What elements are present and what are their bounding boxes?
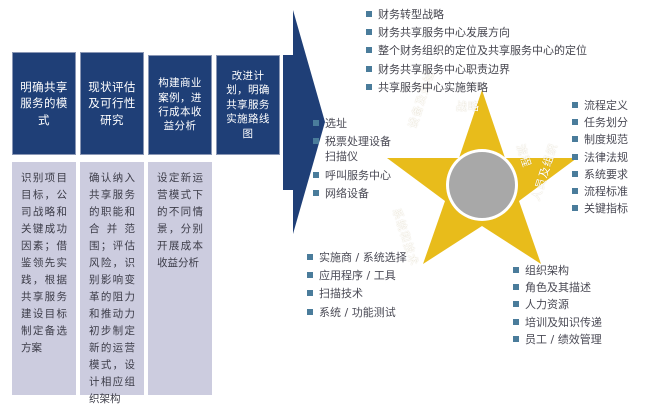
bullet-square-icon bbox=[307, 272, 313, 278]
list-item: 财务转型战略 bbox=[366, 7, 587, 22]
detail-box-1: 识别项目目标，公司战略和关键成功因素；借鉴领先实践，根据共享服务建设目标制定备选… bbox=[12, 162, 76, 395]
bullet-square-icon bbox=[572, 205, 578, 211]
list-item-label: 整个财务组织的定位及共享服务中心的定位 bbox=[378, 43, 587, 58]
list-item: 应用程序 / 工具 bbox=[307, 268, 407, 283]
list-item: 整个财务组织的定位及共享服务中心的定位 bbox=[366, 43, 587, 58]
detail-box-3: 设定新运营模式下的不同情景，分别开展成本收益分析 bbox=[148, 162, 212, 395]
list-item-label: 税票处理设备 bbox=[325, 134, 391, 149]
bullet-square-icon bbox=[313, 172, 319, 178]
list-item: 法律法规 bbox=[572, 150, 628, 165]
detail-box-1-text: 识别项目目标，公司战略和关键成功因素；借鉴领先实践，根据共享服务建设目标制定备选… bbox=[21, 172, 67, 354]
bullet-list-strategy: 财务转型战略 财务共享服务中心发展方向 整个财务组织的定位及共享服务中心的定位 … bbox=[366, 7, 587, 98]
star-label-strategy: 战略 bbox=[456, 98, 480, 114]
list-item-label: 财务共享服务中心发展方向 bbox=[378, 25, 510, 40]
bullet-square-icon bbox=[366, 66, 372, 72]
bullet-square-icon bbox=[366, 11, 372, 17]
list-item-label: 培训及知识传递 bbox=[525, 315, 602, 330]
list-item-label: 财务转型战略 bbox=[378, 7, 444, 22]
list-item-label: 人力资源 bbox=[525, 297, 569, 312]
bullet-list-process: 流程定义 任务划分 制度规范 法律法规 系统要求 流程标准 关键指标 bbox=[572, 98, 628, 218]
bullet-square-icon bbox=[513, 284, 519, 290]
list-item-label: 流程定义 bbox=[584, 98, 628, 113]
list-item: 组织架构 bbox=[513, 263, 602, 278]
list-item: 实施商 / 系统选择 bbox=[307, 250, 407, 265]
list-item-label: 员工 / 绩效管理 bbox=[525, 332, 602, 347]
bullet-square-icon bbox=[307, 309, 313, 315]
list-item: 系统 / 功能测试 bbox=[307, 305, 407, 320]
list-item-label: 组织架构 bbox=[525, 263, 569, 278]
list-item-label: 财务共享服务中心职责边界 bbox=[378, 62, 510, 77]
list-item-label: 选址 bbox=[325, 116, 347, 131]
bullet-square-icon bbox=[366, 29, 372, 35]
list-item-sublabel: 扫描仪 bbox=[325, 149, 391, 164]
list-item-label: 任务划分 bbox=[584, 115, 628, 130]
bullet-square-icon bbox=[366, 84, 372, 90]
list-item: 呼叫服务中心 bbox=[313, 168, 391, 183]
detail-box-2: 确认纳入共享服务的职能和合并范围；评估风险，识别影响变革的阻力和推动力初步制定新… bbox=[80, 162, 144, 395]
bullet-square-icon bbox=[366, 47, 372, 53]
phase-box-1[interactable]: 明确共享服务的模式 bbox=[12, 52, 76, 155]
bullet-square-icon bbox=[313, 138, 319, 144]
phase-box-2[interactable]: 现状评估及可行性研究 bbox=[80, 52, 144, 155]
list-item-label: 应用程序 / 工具 bbox=[319, 268, 396, 283]
bullet-square-icon bbox=[513, 267, 519, 273]
list-item: 系统要求 bbox=[572, 167, 628, 182]
phase-box-1-label: 明确共享服务的模式 bbox=[17, 79, 71, 128]
list-item: 选址 bbox=[313, 116, 391, 131]
phase-box-3-label: 构建商业案例，进行成本收益分析 bbox=[153, 76, 207, 134]
bullet-square-icon bbox=[307, 290, 313, 296]
list-item: 人力资源 bbox=[513, 297, 602, 312]
list-item: 共享服务中心实施策略 bbox=[366, 80, 587, 95]
list-item: 制度规范 bbox=[572, 132, 628, 147]
bullet-square-icon bbox=[572, 136, 578, 142]
phase-box-4-label: 改进计划，明确共享服务实施路线图 bbox=[221, 69, 275, 141]
detail-box-3-text: 设定新运营模式下的不同情景，分别开展成本收益分析 bbox=[157, 172, 203, 269]
bullet-square-icon bbox=[572, 154, 578, 160]
five-point-star-diagram: 战略 流程 人员及组织 系统和技术 设备及选址 bbox=[378, 88, 586, 264]
list-item-label: 共享服务中心实施策略 bbox=[378, 80, 488, 95]
list-item-label: 角色及其描述 bbox=[525, 280, 591, 295]
list-item: 财务共享服务中心职责边界 bbox=[366, 62, 587, 77]
list-item-label: 关键指标 bbox=[584, 201, 628, 216]
bullet-square-icon bbox=[572, 102, 578, 108]
list-item: 财务共享服务中心发展方向 bbox=[366, 25, 587, 40]
list-item-label: 制度规范 bbox=[584, 132, 628, 147]
list-item-label: 系统要求 bbox=[584, 167, 628, 182]
list-item-label: 法律法规 bbox=[584, 150, 628, 165]
list-item: 网络设备 bbox=[313, 186, 391, 201]
bullet-list-people-org: 组织架构 角色及其描述 人力资源 培训及知识传递 员工 / 绩效管理 bbox=[513, 263, 602, 349]
diagram-canvas: 明确共享服务的模式 现状评估及可行性研究 构建商业案例，进行成本收益分析 改进计… bbox=[0, 0, 650, 419]
bullet-square-icon bbox=[313, 190, 319, 196]
detail-box-2-text: 确认纳入共享服务的职能和合并范围；评估风险，识别影响变革的阻力和推动力初步制定新… bbox=[89, 172, 135, 405]
list-item-label: 系统 / 功能测试 bbox=[319, 305, 396, 320]
bullet-square-icon bbox=[572, 188, 578, 194]
bullet-square-icon bbox=[307, 254, 313, 260]
list-item-label: 实施商 / 系统选择 bbox=[319, 250, 407, 265]
bullet-square-icon bbox=[572, 171, 578, 177]
list-item-label: 网络设备 bbox=[325, 186, 369, 201]
bullet-list-facility-site: 选址 税票处理设备 扫描仪 呼叫服务中心 网络设备 bbox=[313, 116, 391, 204]
list-item-label: 扫描技术 bbox=[319, 286, 363, 301]
list-item: 扫描技术 bbox=[307, 286, 407, 301]
list-item: 流程标准 bbox=[572, 184, 628, 199]
list-item-label: 流程标准 bbox=[584, 184, 628, 199]
phase-box-2-label: 现状评估及可行性研究 bbox=[85, 79, 139, 128]
list-item: 员工 / 绩效管理 bbox=[513, 332, 602, 347]
phase-box-3[interactable]: 构建商业案例，进行成本收益分析 bbox=[148, 55, 212, 155]
bullet-square-icon bbox=[513, 336, 519, 342]
bullet-square-icon bbox=[313, 120, 319, 126]
bullet-square-icon bbox=[572, 119, 578, 125]
bullet-square-icon bbox=[513, 301, 519, 307]
bullet-square-icon bbox=[513, 319, 519, 325]
list-item: 税票处理设备 扫描仪 bbox=[313, 134, 391, 164]
bullet-list-systems-tech: 实施商 / 系统选择 应用程序 / 工具 扫描技术 系统 / 功能测试 bbox=[307, 250, 407, 323]
phase-box-4[interactable]: 改进计划，明确共享服务实施路线图 bbox=[216, 55, 280, 155]
list-item: 角色及其描述 bbox=[513, 280, 602, 295]
list-item: 关键指标 bbox=[572, 201, 628, 216]
list-item: 流程定义 bbox=[572, 98, 628, 113]
list-item-label: 呼叫服务中心 bbox=[325, 168, 391, 183]
list-item: 任务划分 bbox=[572, 115, 628, 130]
list-item: 培训及知识传递 bbox=[513, 315, 602, 330]
